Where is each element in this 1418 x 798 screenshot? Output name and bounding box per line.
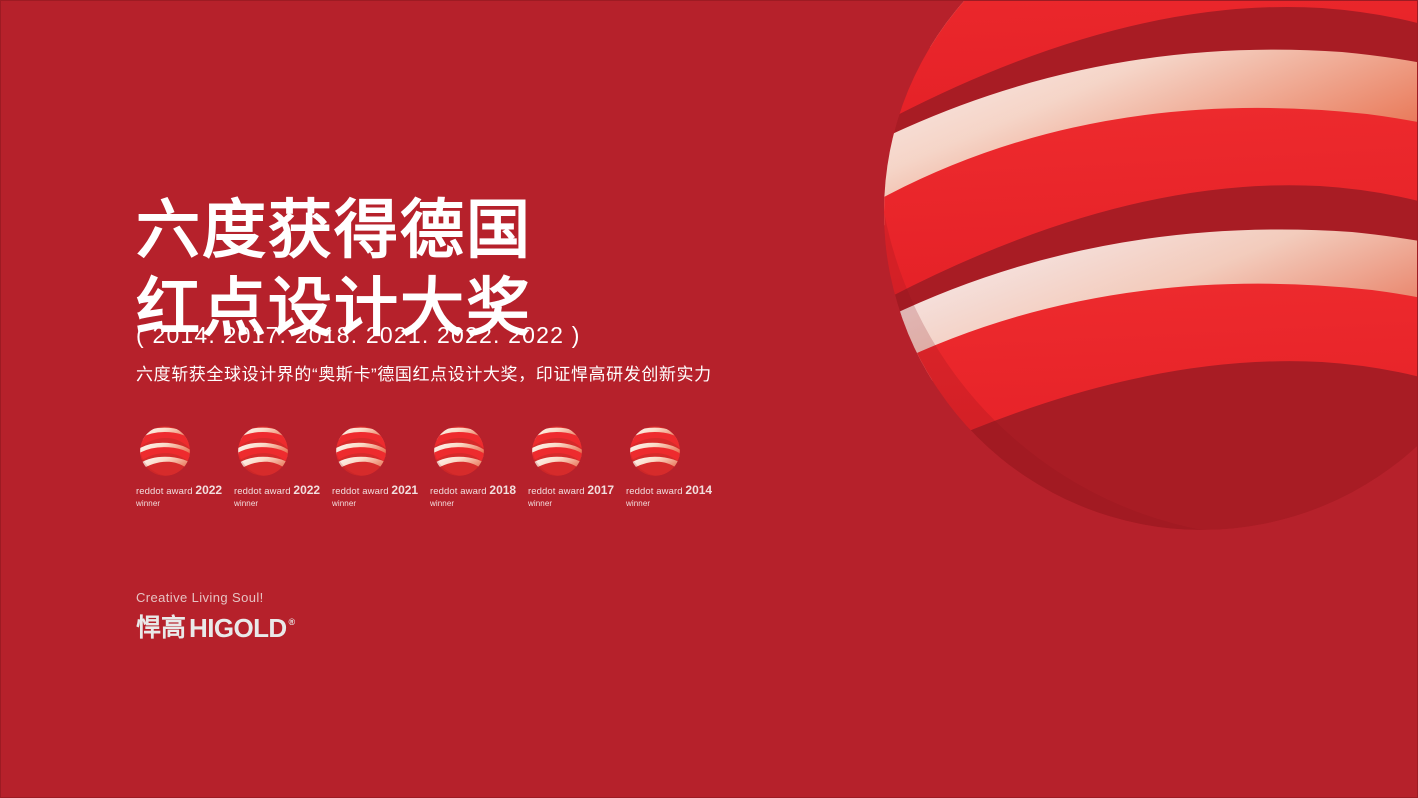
award-program-line: reddot award 2021 — [332, 484, 418, 498]
subtitle-text: 六度斩获全球设计界的“奥斯卡”德国红点设计大奖，印证悍高研发创新实力 — [136, 360, 712, 385]
reddot-sphere-icon — [628, 424, 682, 478]
award-year: 2022 — [195, 483, 222, 497]
award-year: 2018 — [489, 483, 516, 497]
brand-tagline: Creative Living Soul! — [136, 590, 295, 605]
award-badge: reddot award 2018 winner — [430, 424, 528, 508]
award-caption: reddot award 2014 winner — [626, 484, 712, 508]
brand-block: Creative Living Soul! 悍高 HIGOLD ® — [136, 590, 295, 641]
award-program-line: reddot award 2022 — [136, 484, 222, 498]
headline-line-1: 六度获得德国 — [136, 191, 532, 269]
award-status: winner — [626, 499, 712, 508]
award-badge: reddot award 2017 winner — [528, 424, 626, 508]
award-status: winner — [332, 499, 418, 508]
award-status: winner — [136, 499, 222, 508]
reddot-sphere-icon — [872, 0, 1418, 542]
award-program: reddot award — [234, 486, 291, 497]
reddot-sphere-icon — [530, 424, 584, 478]
award-program-line: reddot award 2017 — [528, 484, 614, 498]
award-badge: reddot award 2021 winner — [332, 424, 430, 508]
slide-canvas: 六度获得德国 红点设计大奖 ( 2014. 2017. 2018. 2021. … — [0, 0, 1418, 798]
award-status: winner — [528, 499, 614, 508]
award-year: 2017 — [587, 483, 614, 497]
award-year: 2021 — [391, 483, 418, 497]
award-year: 2022 — [293, 483, 320, 497]
brand-name-cn: 悍高 — [136, 616, 186, 641]
reddot-sphere-icon — [432, 424, 486, 478]
reddot-sphere-icon — [334, 424, 388, 478]
award-program: reddot award — [430, 486, 487, 497]
award-program: reddot award — [528, 486, 585, 497]
award-badge: reddot award 2014 winner — [626, 424, 724, 508]
award-caption: reddot award 2018 winner — [430, 484, 516, 508]
brand-logo: 悍高 HIGOLD ® — [136, 615, 295, 641]
award-caption: reddot award 2022 winner — [136, 484, 222, 508]
award-program: reddot award — [136, 486, 193, 497]
award-caption: reddot award 2017 winner — [528, 484, 614, 508]
award-program-line: reddot award 2022 — [234, 484, 320, 498]
award-badge: reddot award 2022 winner — [136, 424, 234, 508]
award-status: winner — [234, 499, 320, 508]
award-program: reddot award — [332, 486, 389, 497]
award-program-line: reddot award 2018 — [430, 484, 516, 498]
award-badge-row: reddot award 2022 winner — [136, 424, 724, 508]
award-status: winner — [430, 499, 516, 508]
award-years-list: ( 2014. 2017. 2018. 2021. 2022. 2022 ) — [136, 322, 581, 349]
reddot-sphere-icon — [138, 424, 192, 478]
registered-trademark-icon: ® — [289, 618, 296, 627]
award-badge: reddot award 2022 winner — [234, 424, 332, 508]
award-program-line: reddot award 2014 — [626, 484, 712, 498]
reddot-sphere-icon — [236, 424, 290, 478]
award-program: reddot award — [626, 486, 683, 497]
content-column: 六度获得德国 红点设计大奖 ( 2014. 2017. 2018. 2021. … — [136, 0, 896, 798]
brand-name-en: HIGOLD — [189, 615, 287, 641]
award-year: 2014 — [685, 483, 712, 497]
award-caption: reddot award 2021 winner — [332, 484, 418, 508]
award-caption: reddot award 2022 winner — [234, 484, 320, 508]
